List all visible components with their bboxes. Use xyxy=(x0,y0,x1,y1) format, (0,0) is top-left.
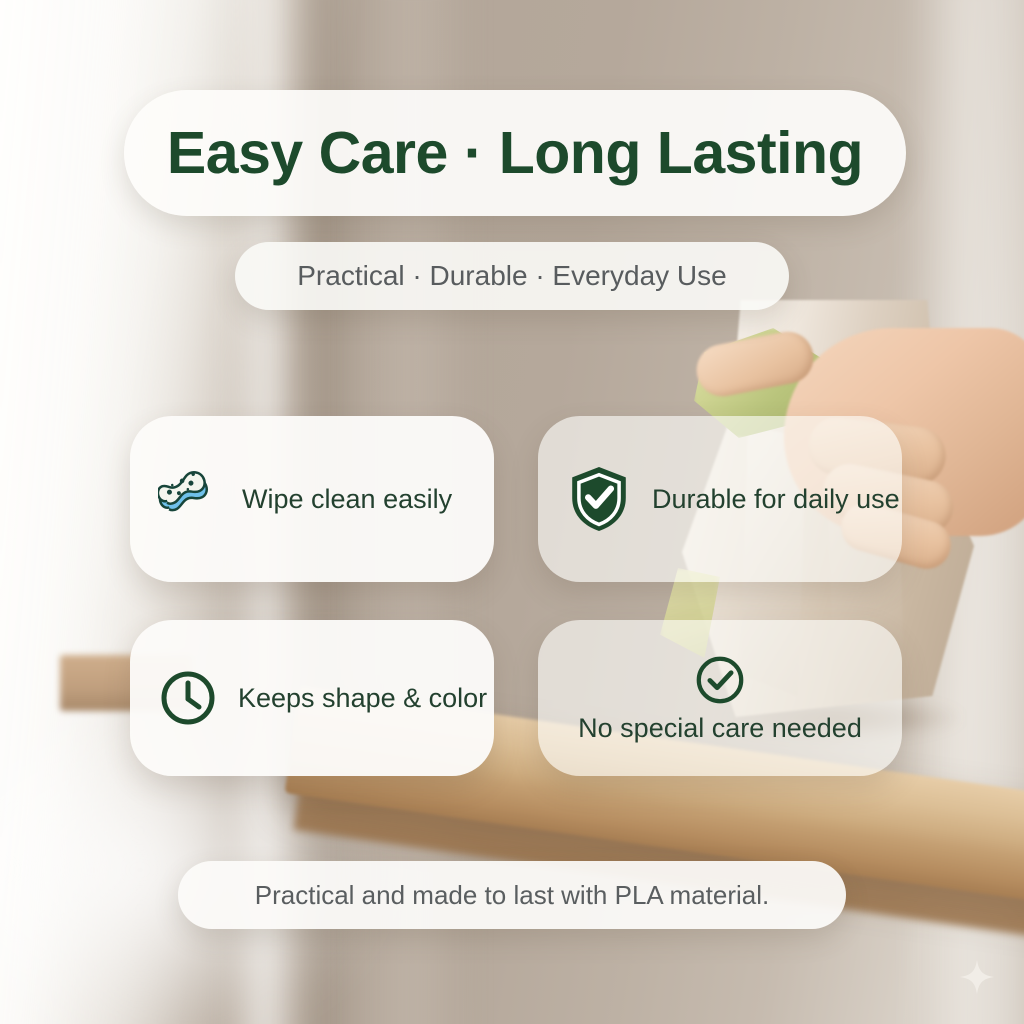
content-overlay: Easy Care · Long Lasting Practical · Dur… xyxy=(0,0,1024,1024)
feature-card-wipe-clean[interactable]: Wipe clean easily xyxy=(130,416,494,582)
footer-pill: Practical and made to last with PLA mate… xyxy=(178,861,846,929)
sponge-icon xyxy=(158,468,220,530)
feature-card-durable[interactable]: Durable for daily use xyxy=(538,416,902,582)
feature-label: No special care needed xyxy=(578,713,862,744)
feature-card-keeps-shape[interactable]: Keeps shape & color xyxy=(130,620,494,776)
infographic-canvas: Easy Care · Long Lasting Practical · Dur… xyxy=(0,0,1024,1024)
feature-card-no-special-care[interactable]: No special care needed xyxy=(538,620,902,776)
feature-label: Wipe clean easily xyxy=(242,484,452,515)
clock-icon xyxy=(158,668,218,728)
footer-text: Practical and made to last with PLA mate… xyxy=(255,880,769,911)
feature-label: Durable for daily use xyxy=(652,484,900,515)
sparkle-icon xyxy=(960,960,994,994)
circle-check-icon xyxy=(693,653,747,707)
shield-check-icon xyxy=(568,465,630,533)
feature-label: Keeps shape & color xyxy=(238,683,487,714)
